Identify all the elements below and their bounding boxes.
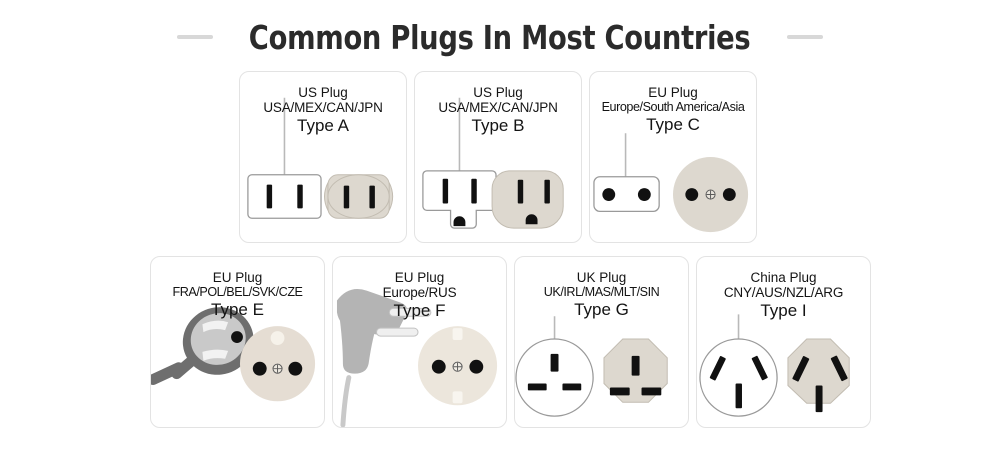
socket-slot-left — [518, 180, 523, 204]
socket-hole-left — [253, 362, 267, 376]
plug-card-type-f[interactable]: EU Plug Europe/RUS Type F — [332, 256, 507, 428]
plug-card-type-c[interactable]: EU Plug Europe/South America/Asia Type C — [589, 71, 757, 243]
cord-line — [343, 378, 349, 425]
type-e-illustration — [151, 257, 324, 427]
socket-earth-clip-bottom — [453, 391, 463, 403]
socket-hole-right — [288, 362, 302, 376]
plug-slot-earth — [736, 384, 742, 409]
plug-blade-left — [267, 185, 272, 209]
type-a-illustration — [240, 72, 406, 242]
socket-earth-clip-top — [453, 328, 463, 340]
plug-card-type-i[interactable]: China Plug CNY/AUS/NZL/ARG Type I — [696, 256, 871, 428]
plug-card-type-e[interactable]: EU Plug FRA/POL/BEL/SVK/CZE Type E — [150, 256, 325, 428]
type-g-plug-body — [516, 339, 593, 416]
plug-blade-right — [471, 179, 476, 204]
type-a-plug-body — [248, 175, 321, 218]
plug-row-bottom: EU Plug FRA/POL/BEL/SVK/CZE Type E — [150, 256, 871, 428]
socket-hole-right — [723, 188, 736, 201]
socket-slot-left — [610, 387, 630, 395]
plug-pin-left — [602, 188, 615, 201]
page-title: Common Plugs In Most Countries — [249, 18, 751, 57]
socket-slot-right — [544, 180, 549, 204]
type-c-illustration — [590, 72, 756, 242]
socket-hole-left — [432, 360, 446, 374]
plug-blade-left — [443, 179, 448, 204]
plug-card-type-a[interactable]: US Plug USA/MEX/CAN/JPN Type A — [239, 71, 407, 243]
plug-blade-right — [297, 185, 302, 209]
socket-slot-earth — [632, 356, 640, 376]
socket-hole-left — [685, 188, 698, 201]
type-f-plug-shell-body — [339, 298, 380, 374]
plug-slot-right — [562, 384, 581, 391]
plug-earth-hole — [231, 331, 243, 343]
title-rule-left-icon — [177, 35, 213, 39]
socket-hole-right — [469, 360, 483, 374]
plug-card-type-g[interactable]: UK Plug UK/IRL/MAS/MLT/SIN Type G — [514, 256, 689, 428]
socket-slot-right — [369, 186, 374, 209]
type-i-illustration — [697, 257, 870, 427]
socket-face — [328, 175, 389, 218]
title-rule-right-icon — [787, 35, 823, 39]
socket-slot-earth — [816, 385, 823, 412]
type-g-illustration — [515, 257, 688, 427]
plug-pin-right — [638, 188, 651, 201]
socket-slot-right — [642, 387, 662, 395]
plug-row-top: US Plug USA/MEX/CAN/JPN Type A US Plug U… — [239, 71, 757, 243]
type-b-illustration — [415, 72, 581, 242]
page-header: Common Plugs In Most Countries — [0, 14, 1000, 60]
plug-pin-lower — [377, 328, 419, 336]
plug-slot-left — [528, 384, 547, 391]
plug-card-type-b[interactable]: US Plug USA/MEX/CAN/JPN Type B — [414, 71, 582, 243]
plug-slot-earth — [551, 354, 559, 372]
plug-pin-upper — [389, 308, 431, 316]
socket-earth-pin — [271, 331, 285, 345]
socket-slot-left — [344, 186, 349, 209]
type-f-illustration — [333, 257, 506, 427]
